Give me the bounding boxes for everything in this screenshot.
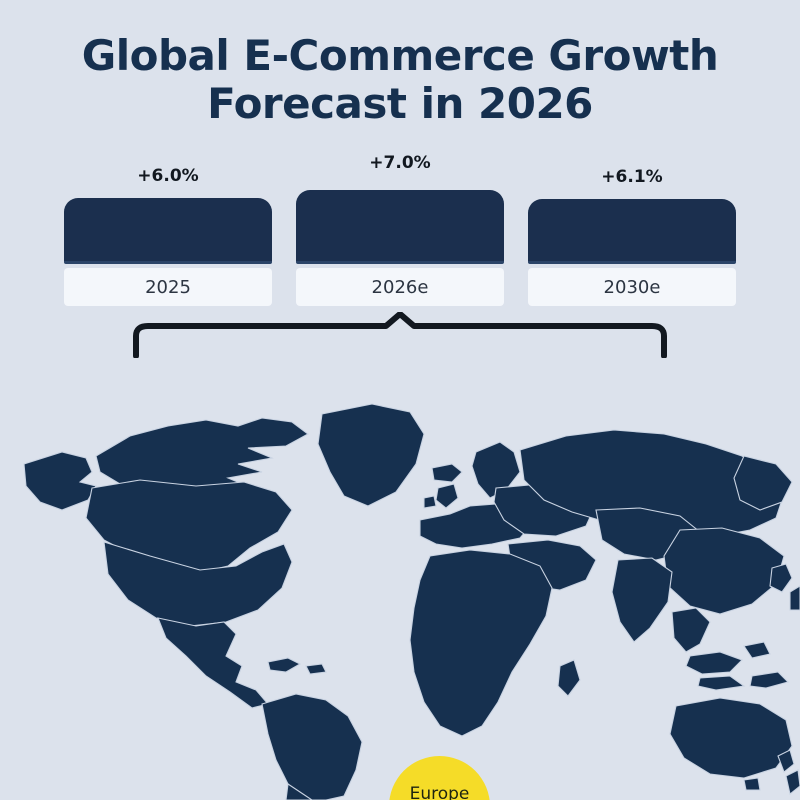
bar-value-label: +6.0% [64, 166, 272, 186]
bar-column [64, 198, 272, 264]
world-bubble-map: North America 7.6% South America 9.1% Eu… [0, 360, 800, 800]
infographic-canvas: Global E-Commerce Growth Forecast in 202… [0, 0, 800, 800]
bubble-region-name: Europe [410, 785, 470, 800]
brace-connector-icon [130, 312, 670, 358]
bar-period-box: 2025 [64, 268, 272, 306]
bar-period-label: 2030e [604, 277, 661, 298]
bar-value-label: +6.1% [528, 167, 736, 187]
page-title: Global E-Commerce Growth Forecast in 202… [0, 32, 800, 128]
world-map-icon [0, 360, 800, 800]
bar-column [528, 199, 736, 264]
page-title-line-1: Global E-Commerce Growth [0, 32, 800, 80]
bar-group-2026e[interactable]: +7.0% 2026e [296, 150, 504, 310]
bar-column [296, 190, 504, 264]
bar-period-box: 2026e [296, 268, 504, 306]
bar-group-2025[interactable]: +6.0% 2025 [64, 150, 272, 310]
page-title-line-2: Forecast in 2026 [0, 80, 800, 128]
bubble-region-name-line-1: Europe [410, 784, 470, 800]
bar-period-box: 2030e [528, 268, 736, 306]
bar-period-label: 2026e [372, 277, 429, 298]
bar-group-2030e[interactable]: +6.1% 2030e [528, 150, 736, 310]
bar-period-label: 2025 [145, 277, 191, 298]
forecast-bar-chart: +6.0% 2025 +7.0% 2026e +6.1% 2030e [0, 150, 800, 310]
bar-value-label: +7.0% [296, 153, 504, 173]
